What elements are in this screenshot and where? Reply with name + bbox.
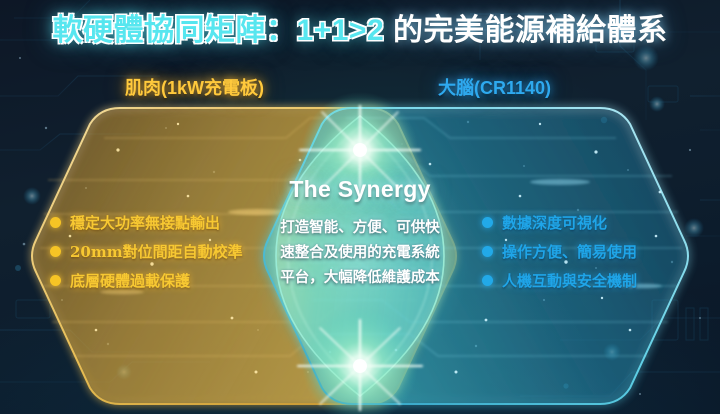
synergy-body-line: 速整合及使用的充電系統 xyxy=(255,240,465,265)
list-item: 操作方便、簡易使用 xyxy=(482,237,697,266)
starburst-bottom xyxy=(298,308,422,414)
bullet-dot-icon xyxy=(50,246,61,257)
right-bullet-list: 數據深度可視化 操作方便、簡易使用 人機互動與安全機制 xyxy=(482,208,697,295)
bullet-label: 底層硬體過載保護 xyxy=(70,270,190,291)
title-highlight: 軟硬體協同矩陣：1+1>2 xyxy=(53,14,385,47)
page-title: 軟硬體協同矩陣：1+1>2 的完美能源補給體系 xyxy=(0,12,720,50)
title-rest: 的完美能源補給體系 xyxy=(384,14,667,47)
list-item: 底層硬體過載保護 xyxy=(50,266,290,295)
list-item: 數據深度可視化 xyxy=(482,208,697,237)
bullet-dot-icon xyxy=(482,275,493,286)
bullet-label: 穩定大功率無接點輸出 xyxy=(70,212,220,233)
bullet-dot-icon xyxy=(50,217,61,228)
list-item: 穩定大功率無接點輸出 xyxy=(50,208,290,237)
bullet-label: 操作方便、簡易使用 xyxy=(502,241,637,262)
bullet-dot-icon xyxy=(50,275,61,286)
slide-canvas: 軟硬體協同矩陣：1+1>2 的完美能源補給體系 肌肉(1kW充電板) 大腦(CR… xyxy=(0,0,720,414)
bullet-label: 人機互動與安全機制 xyxy=(502,270,637,291)
bullet-dot-icon xyxy=(482,217,493,228)
list-item: 20mm對位間距自動校準 xyxy=(50,237,290,266)
caption-right: 大腦(CR1140) xyxy=(438,74,551,100)
bullet-dot-icon xyxy=(482,246,493,257)
synergy-body-line: 平台，大幅降低維護成本 xyxy=(255,265,465,290)
synergy-panel: The Synergy 打造智能、方便、可供快 速整合及使用的充電系統 平台，大… xyxy=(255,176,465,290)
bullet-label: 數據深度可視化 xyxy=(502,212,607,233)
list-item: 人機互動與安全機制 xyxy=(482,266,697,295)
left-bullet-list: 穩定大功率無接點輸出 20mm對位間距自動校準 底層硬體過載保護 xyxy=(50,208,290,295)
synergy-body: 打造智能、方便、可供快 速整合及使用的充電系統 平台，大幅降低維護成本 xyxy=(255,215,465,290)
synergy-heading: The Synergy xyxy=(255,176,465,203)
caption-left: 肌肉(1kW充電板) xyxy=(125,74,264,100)
bullet-label: 20mm對位間距自動校準 xyxy=(70,241,243,262)
synergy-body-line: 打造智能、方便、可供快 xyxy=(255,215,465,240)
